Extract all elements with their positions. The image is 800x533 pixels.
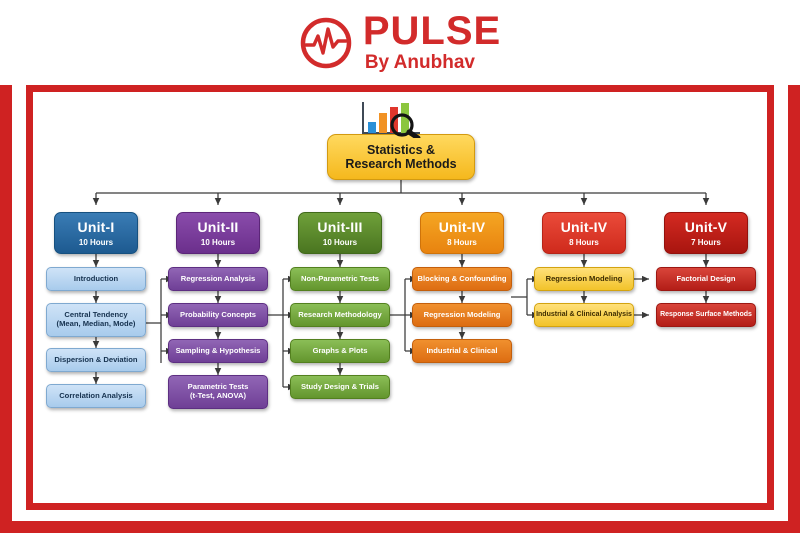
unit-1-name: Unit-I [78,219,115,235]
topic-label-line2: (Mean, Median, Mode) [57,320,136,329]
brand-logo: PULSE By Anubhav [0,8,800,78]
topic-u1-correlation-analysis[interactable]: Correlation Analysis [46,384,146,408]
topic-u4-blocking-confounding[interactable]: Blocking & Confounding [412,267,512,291]
diagram-root-node[interactable]: Statistics & Research Methods [327,134,475,180]
unit-header-3[interactable]: Unit-III 10 Hours [298,212,382,254]
unit-5-name: Unit-IV [561,219,608,235]
topic-u2-parametric-tests[interactable]: Parametric Tests (t-Test, ANOVA) [168,375,268,409]
topic-label: Graphs & Plots [313,347,368,356]
root-label-line2: Research Methods [345,157,456,171]
topic-u4-regression-modeling[interactable]: Regression Modeling [412,303,512,327]
topic-label: Probability Concepts [180,311,256,320]
topic-u6-factorial-design[interactable]: Factorial Design [656,267,756,291]
topic-u2-regression-analysis[interactable]: Regression Analysis [168,267,268,291]
topic-u3-non-parametric-tests[interactable]: Non-Parametric Tests [290,267,390,291]
unit-2-hours: 10 Hours [201,238,235,247]
bar-chart-magnifier-icon [354,100,426,138]
topic-label: Dispersion & Deviation [54,356,137,365]
topic-label: Regression Modeling [424,311,501,320]
unit-1-hours: 10 Hours [79,238,113,247]
topic-label-line2: (t-Test, ANOVA) [190,392,246,401]
topic-label: Factorial Design [676,275,735,284]
unit-3-name: Unit-III [317,219,362,235]
topic-u5-regression-modeling[interactable]: Regression Modeling [534,267,634,291]
topic-label: Regression Analysis [181,275,255,284]
topic-label: Sampling & Hypothesis [176,347,261,356]
topic-label: Introduction [74,275,118,284]
unit-6-hours: 7 Hours [691,238,721,247]
root-label-line1: Statistics & [367,143,435,157]
unit-header-1[interactable]: Unit-I 10 Hours [54,212,138,254]
unit-2-name: Unit-II [197,219,238,235]
topic-u1-central-tendency[interactable]: Central Tendency (Mean, Median, Mode) [46,303,146,337]
unit-4-name: Unit-IV [439,219,486,235]
topic-label: Research Methodology [298,311,382,320]
topic-label: Correlation Analysis [59,392,133,401]
topic-u3-research-methodology[interactable]: Research Methodology [290,303,390,327]
topic-label: Study Design & Trials [301,383,379,392]
unit-3-hours: 10 Hours [323,238,357,247]
topic-u4-industrial-clinical[interactable]: Industrial & Clinical [412,339,512,363]
diagram-canvas: Statistics & Research Methods Unit-I 10 … [33,92,767,503]
topic-label: Industrial & Clinical Analysis [536,311,632,319]
unit-header-5[interactable]: Unit-IV 8 Hours [542,212,626,254]
topic-label: Blocking & Confounding [417,275,506,284]
pulse-heartbeat-icon [299,16,353,70]
topic-label: Industrial & Clinical [427,347,498,356]
unit-4-hours: 8 Hours [447,238,477,247]
topic-u6-response-surface-methods[interactable]: Response Surface Methods [656,303,756,327]
brand-title: PULSE [363,12,501,50]
topic-label: Regression Modeling [546,275,623,284]
unit-header-6[interactable]: Unit-V 7 Hours [664,212,748,254]
topic-u2-probability-concepts[interactable]: Probability Concepts [168,303,268,327]
brand-subtitle: By Anubhav [365,52,475,74]
topic-label: Response Surface Methods [660,311,752,319]
topic-u2-sampling-hypothesis[interactable]: Sampling & Hypothesis [168,339,268,363]
unit-header-4[interactable]: Unit-IV 8 Hours [420,212,504,254]
topic-u1-introduction[interactable]: Introduction [46,267,146,291]
topic-u3-study-design-trials[interactable]: Study Design & Trials [290,375,390,399]
topic-u3-graphs-plots[interactable]: Graphs & Plots [290,339,390,363]
unit-5-hours: 8 Hours [569,238,599,247]
unit-6-name: Unit-V [685,219,727,235]
topic-u5-industrial-clinical-analysis[interactable]: Industrial & Clinical Analysis [534,303,634,327]
topic-label: Non-Parametric Tests [301,275,379,284]
topic-u1-dispersion-deviation[interactable]: Dispersion & Deviation [46,348,146,372]
unit-header-2[interactable]: Unit-II 10 Hours [176,212,260,254]
